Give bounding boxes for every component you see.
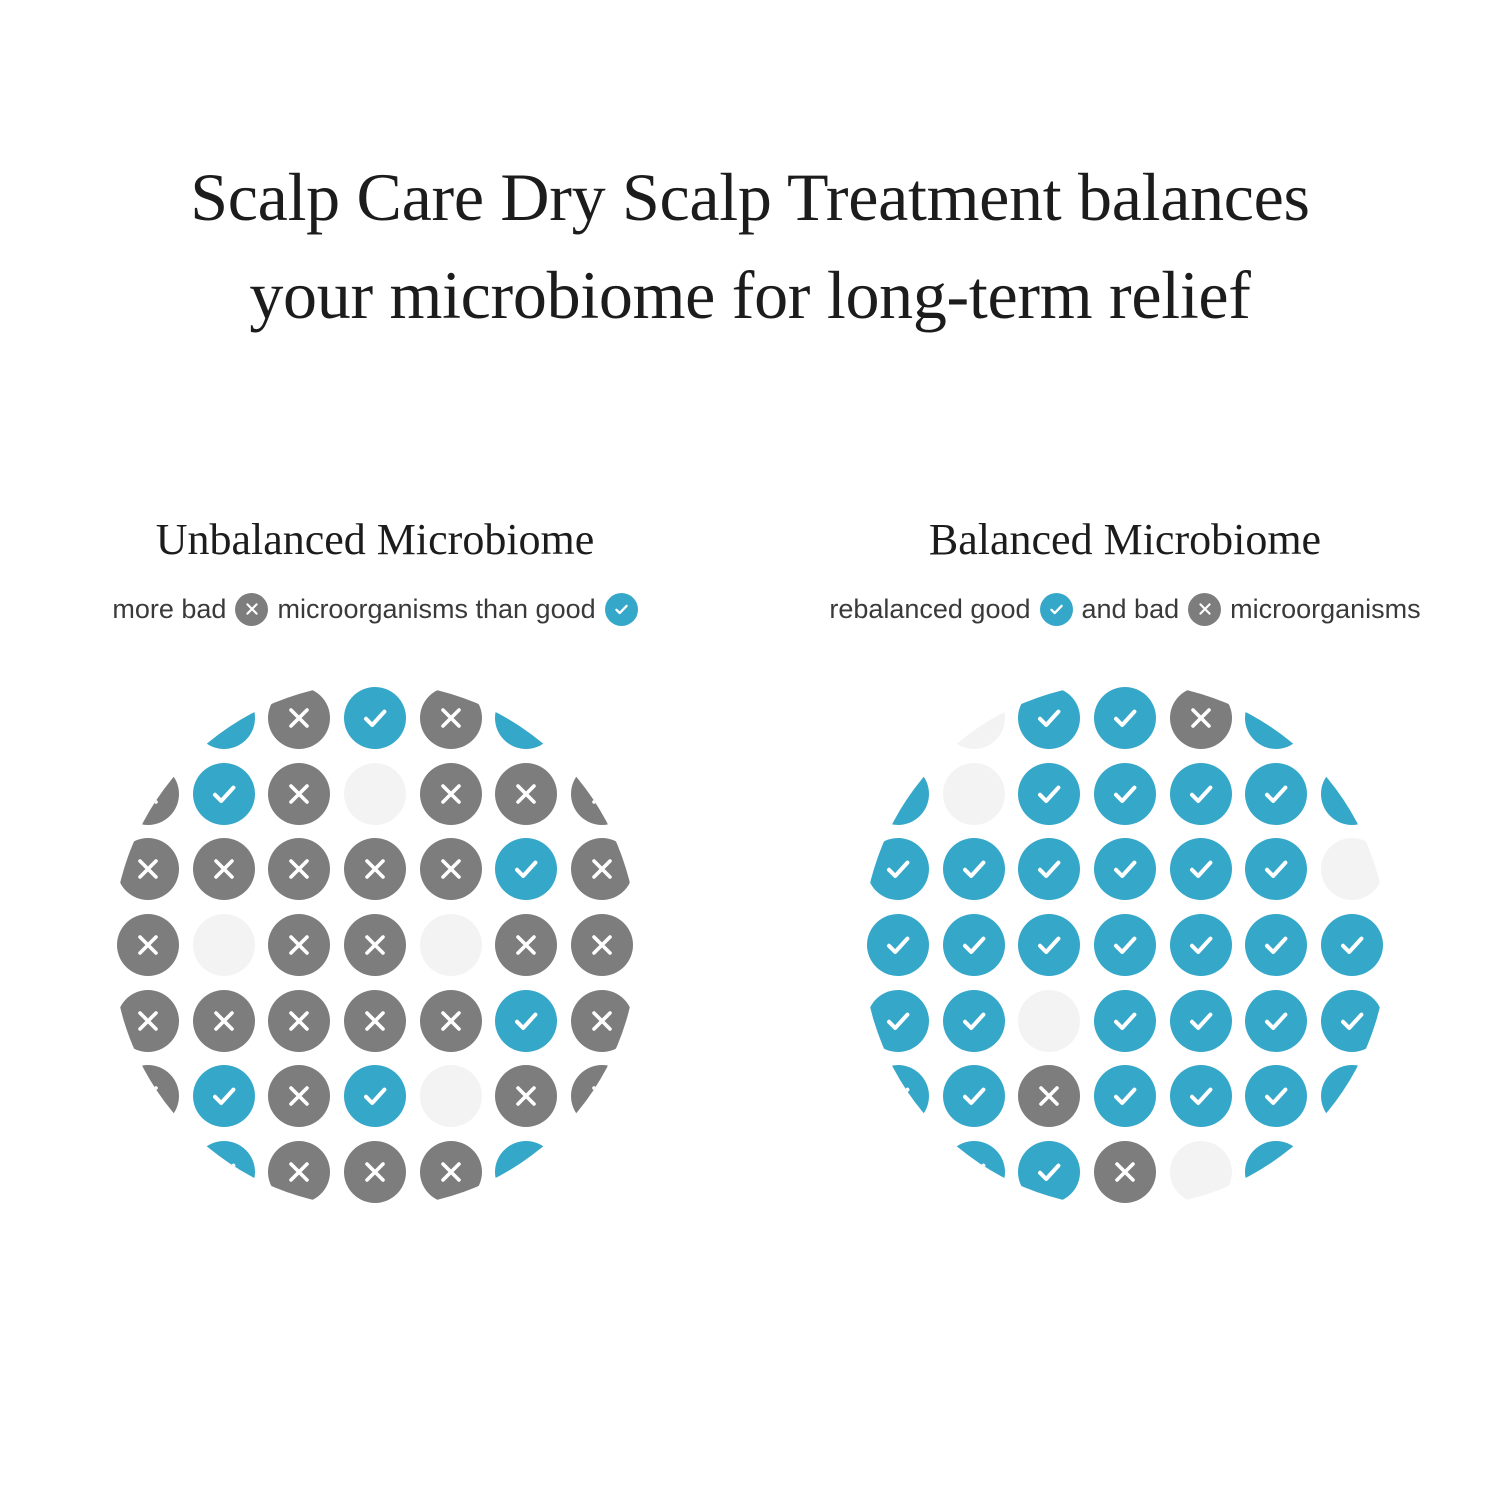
microbe-cell bbox=[564, 1134, 640, 1210]
panel-caption-balanced: rebalanced good and bad microorganisms bbox=[829, 592, 1420, 626]
bad-microbe-x-icon bbox=[420, 838, 482, 900]
microbe-cell bbox=[186, 1134, 262, 1210]
panel-heading-unbalanced: Unbalanced Microbiome bbox=[156, 512, 595, 568]
microbe-cell bbox=[110, 831, 186, 907]
microbe-cell bbox=[261, 907, 337, 983]
good-microbe-check-icon bbox=[1094, 687, 1156, 749]
caption-text-part2: and bad bbox=[1082, 594, 1180, 625]
microbe-cell bbox=[261, 1059, 337, 1135]
microbe-cell bbox=[1314, 1059, 1390, 1135]
microbe-cell bbox=[337, 831, 413, 907]
bad-microbe-x-icon bbox=[268, 687, 330, 749]
bad-microbe-x-icon bbox=[420, 763, 482, 825]
bad-microbe-x-icon bbox=[268, 1141, 330, 1203]
bad-microbe-x-icon bbox=[344, 914, 406, 976]
microbe-cell bbox=[860, 831, 936, 907]
microbe-cell bbox=[110, 680, 186, 756]
microbe-cell bbox=[1314, 983, 1390, 1059]
good-microbe-check-icon bbox=[193, 1065, 255, 1127]
good-microbe-check-icon bbox=[1018, 763, 1080, 825]
microbe-cell bbox=[186, 756, 262, 832]
microbe-cell bbox=[1163, 1134, 1239, 1210]
microbe-cell bbox=[1087, 1059, 1163, 1135]
infographic-page: Scalp Care Dry Scalp Treatment balances … bbox=[0, 0, 1500, 1500]
microbe-cell bbox=[936, 1134, 1012, 1210]
microbe-cell bbox=[489, 983, 565, 1059]
microbe-cell bbox=[1011, 983, 1087, 1059]
microbe-cell bbox=[1314, 907, 1390, 983]
bad-microbe-x-icon bbox=[268, 914, 330, 976]
good-microbe-check-icon bbox=[1321, 990, 1383, 1052]
microbe-cell bbox=[860, 907, 936, 983]
title-line-2: your microbiome for long-term relief bbox=[0, 246, 1500, 344]
microbe-cell bbox=[860, 1059, 936, 1135]
microbe-cell bbox=[1239, 1134, 1315, 1210]
microbe-cell bbox=[860, 983, 936, 1059]
neutral-microbe-dot bbox=[943, 763, 1005, 825]
microbe-cell bbox=[489, 680, 565, 756]
microbiome-grid bbox=[110, 680, 640, 1210]
microbe-cell bbox=[489, 756, 565, 832]
microbe-cell bbox=[936, 983, 1012, 1059]
panel-balanced: Balanced Microbiome rebalanced good and … bbox=[750, 512, 1500, 1210]
bad-microbe-x-icon bbox=[344, 1141, 406, 1203]
microbe-cell bbox=[110, 907, 186, 983]
caption-text-part1: more bad bbox=[112, 594, 226, 625]
good-microbe-check-icon bbox=[943, 990, 1005, 1052]
panel-heading-balanced: Balanced Microbiome bbox=[929, 512, 1321, 568]
good-microbe-check-icon bbox=[1245, 838, 1307, 900]
microbe-cell bbox=[1011, 680, 1087, 756]
microbe-cell bbox=[1087, 907, 1163, 983]
good-microbe-check-icon bbox=[1245, 687, 1307, 749]
microbiome-cluster-unbalanced bbox=[110, 680, 640, 1210]
microbe-cell bbox=[1163, 907, 1239, 983]
microbe-cell bbox=[860, 756, 936, 832]
microbe-cell bbox=[337, 983, 413, 1059]
microbe-cell bbox=[1011, 907, 1087, 983]
bad-microbe-x-icon bbox=[420, 1141, 482, 1203]
microbe-cell bbox=[110, 1134, 186, 1210]
panel-caption-unbalanced: more bad microorganisms than good bbox=[112, 592, 637, 626]
microbe-cell bbox=[489, 907, 565, 983]
microbe-cell bbox=[110, 983, 186, 1059]
microbe-cell bbox=[1314, 756, 1390, 832]
microbe-cell bbox=[1163, 756, 1239, 832]
bad-microbe-x-icon bbox=[117, 914, 179, 976]
good-microbe-check-icon bbox=[1094, 838, 1156, 900]
good-microbe-check-icon bbox=[1018, 838, 1080, 900]
bad-microbe-x-icon bbox=[193, 990, 255, 1052]
x-icon bbox=[1188, 593, 1221, 626]
microbe-cell bbox=[1239, 680, 1315, 756]
microbe-cell bbox=[1314, 1134, 1390, 1210]
bad-microbe-x-icon bbox=[268, 838, 330, 900]
comparison-panels: Unbalanced Microbiome more bad microorga… bbox=[0, 512, 1500, 1210]
good-microbe-check-icon bbox=[1170, 990, 1232, 1052]
microbe-cell bbox=[936, 1059, 1012, 1135]
microbe-cell bbox=[1163, 983, 1239, 1059]
microbe-cell bbox=[337, 680, 413, 756]
bad-microbe-x-icon bbox=[1170, 687, 1232, 749]
good-microbe-check-icon bbox=[193, 1141, 255, 1203]
bad-microbe-x-icon bbox=[1018, 1065, 1080, 1127]
bad-microbe-x-icon bbox=[193, 838, 255, 900]
bad-microbe-x-icon bbox=[495, 763, 557, 825]
neutral-microbe-dot bbox=[420, 914, 482, 976]
good-microbe-check-icon bbox=[943, 914, 1005, 976]
good-microbe-check-icon bbox=[495, 1141, 557, 1203]
microbe-cell bbox=[1239, 1059, 1315, 1135]
bad-microbe-x-icon bbox=[571, 1065, 633, 1127]
bad-microbe-x-icon bbox=[344, 990, 406, 1052]
bad-microbe-x-icon bbox=[571, 838, 633, 900]
microbe-cell bbox=[936, 680, 1012, 756]
neutral-microbe-dot bbox=[344, 763, 406, 825]
good-microbe-check-icon bbox=[943, 1065, 1005, 1127]
good-microbe-check-icon bbox=[1321, 1065, 1383, 1127]
microbe-cell bbox=[186, 907, 262, 983]
check-icon bbox=[605, 593, 638, 626]
page-title: Scalp Care Dry Scalp Treatment balances … bbox=[0, 148, 1500, 344]
microbe-cell bbox=[413, 1059, 489, 1135]
good-microbe-check-icon bbox=[1170, 763, 1232, 825]
microbe-cell bbox=[1239, 831, 1315, 907]
good-microbe-check-icon bbox=[1094, 1065, 1156, 1127]
microbe-cell bbox=[936, 831, 1012, 907]
good-microbe-check-icon bbox=[1321, 914, 1383, 976]
good-microbe-check-icon bbox=[1245, 1141, 1307, 1203]
neutral-microbe-dot bbox=[1170, 1141, 1232, 1203]
bad-microbe-x-icon bbox=[268, 1065, 330, 1127]
check-icon bbox=[1040, 593, 1073, 626]
microbe-cell bbox=[564, 983, 640, 1059]
bad-microbe-x-icon bbox=[571, 763, 633, 825]
microbe-cell bbox=[413, 756, 489, 832]
microbe-cell bbox=[1011, 1134, 1087, 1210]
microbe-cell bbox=[261, 831, 337, 907]
microbe-cell bbox=[413, 907, 489, 983]
bad-microbe-x-icon bbox=[344, 838, 406, 900]
microbe-cell bbox=[1011, 831, 1087, 907]
microbe-cell bbox=[413, 983, 489, 1059]
caption-text-part1: rebalanced good bbox=[829, 594, 1030, 625]
microbe-cell bbox=[261, 1134, 337, 1210]
microbe-cell bbox=[337, 756, 413, 832]
microbe-cell bbox=[110, 756, 186, 832]
good-microbe-check-icon bbox=[867, 763, 929, 825]
microbe-cell bbox=[489, 1134, 565, 1210]
microbe-cell bbox=[186, 1059, 262, 1135]
good-microbe-check-icon bbox=[1245, 990, 1307, 1052]
good-microbe-check-icon bbox=[1094, 763, 1156, 825]
microbe-cell bbox=[564, 1059, 640, 1135]
bad-microbe-x-icon bbox=[420, 990, 482, 1052]
good-microbe-check-icon bbox=[1170, 914, 1232, 976]
microbe-cell bbox=[261, 680, 337, 756]
microbe-cell bbox=[489, 1059, 565, 1135]
microbe-cell bbox=[564, 756, 640, 832]
good-microbe-check-icon bbox=[943, 838, 1005, 900]
x-icon bbox=[235, 593, 268, 626]
bad-microbe-x-icon bbox=[268, 990, 330, 1052]
microbiome-grid bbox=[860, 680, 1390, 1210]
good-microbe-check-icon bbox=[1094, 990, 1156, 1052]
microbiome-cluster-balanced bbox=[860, 680, 1390, 1210]
microbe-cell bbox=[1087, 831, 1163, 907]
good-microbe-check-icon bbox=[1321, 763, 1383, 825]
bad-microbe-x-icon bbox=[420, 687, 482, 749]
microbe-cell bbox=[489, 831, 565, 907]
microbe-cell bbox=[1011, 756, 1087, 832]
good-microbe-check-icon bbox=[344, 1065, 406, 1127]
microbe-cell bbox=[1087, 1134, 1163, 1210]
neutral-microbe-dot bbox=[943, 687, 1005, 749]
microbe-cell bbox=[261, 983, 337, 1059]
bad-microbe-x-icon bbox=[117, 763, 179, 825]
good-microbe-check-icon bbox=[867, 914, 929, 976]
microbe-cell bbox=[1011, 1059, 1087, 1135]
good-microbe-check-icon bbox=[495, 990, 557, 1052]
bad-microbe-x-icon bbox=[117, 838, 179, 900]
good-microbe-check-icon bbox=[344, 687, 406, 749]
microbe-cell bbox=[1239, 756, 1315, 832]
microbe-cell bbox=[860, 1134, 936, 1210]
cluster-circle-mask bbox=[860, 680, 1390, 1210]
panel-unbalanced: Unbalanced Microbiome more bad microorga… bbox=[0, 512, 750, 1210]
microbe-cell bbox=[337, 907, 413, 983]
microbe-cell bbox=[1087, 756, 1163, 832]
bad-microbe-x-icon bbox=[117, 990, 179, 1052]
microbe-cell bbox=[413, 831, 489, 907]
microbe-cell bbox=[186, 831, 262, 907]
microbe-cell bbox=[413, 1134, 489, 1210]
neutral-microbe-dot bbox=[1018, 990, 1080, 1052]
microbe-cell bbox=[1239, 907, 1315, 983]
bad-microbe-x-icon bbox=[268, 763, 330, 825]
good-microbe-check-icon bbox=[1170, 1065, 1232, 1127]
title-line-1: Scalp Care Dry Scalp Treatment balances bbox=[0, 148, 1500, 246]
microbe-cell bbox=[936, 756, 1012, 832]
good-microbe-check-icon bbox=[1018, 687, 1080, 749]
microbe-cell bbox=[1163, 680, 1239, 756]
microbe-cell bbox=[564, 907, 640, 983]
neutral-microbe-dot bbox=[420, 1065, 482, 1127]
microbe-cell bbox=[337, 1059, 413, 1135]
microbe-cell bbox=[936, 907, 1012, 983]
good-microbe-check-icon bbox=[1245, 763, 1307, 825]
microbe-cell bbox=[564, 831, 640, 907]
bad-microbe-x-icon bbox=[1094, 1141, 1156, 1203]
microbe-cell bbox=[1087, 983, 1163, 1059]
microbe-cell bbox=[110, 1059, 186, 1135]
microbe-cell bbox=[564, 680, 640, 756]
microbe-cell bbox=[186, 983, 262, 1059]
microbe-cell bbox=[1314, 680, 1390, 756]
good-microbe-check-icon bbox=[1245, 914, 1307, 976]
microbe-cell bbox=[1087, 680, 1163, 756]
good-microbe-check-icon bbox=[1170, 838, 1232, 900]
bad-microbe-x-icon bbox=[571, 990, 633, 1052]
good-microbe-check-icon bbox=[867, 838, 929, 900]
microbe-cell bbox=[1163, 1059, 1239, 1135]
cluster-circle-mask bbox=[110, 680, 640, 1210]
microbe-cell bbox=[1239, 983, 1315, 1059]
neutral-microbe-dot bbox=[1321, 838, 1383, 900]
good-microbe-check-icon bbox=[495, 687, 557, 749]
good-microbe-check-icon bbox=[943, 1141, 1005, 1203]
microbe-cell bbox=[413, 680, 489, 756]
good-microbe-check-icon bbox=[867, 1065, 929, 1127]
microbe-cell bbox=[1314, 831, 1390, 907]
good-microbe-check-icon bbox=[495, 838, 557, 900]
good-microbe-check-icon bbox=[193, 763, 255, 825]
caption-text-part2: microorganisms than good bbox=[277, 594, 595, 625]
good-microbe-check-icon bbox=[1018, 914, 1080, 976]
good-microbe-check-icon bbox=[1245, 1065, 1307, 1127]
bad-microbe-x-icon bbox=[495, 1065, 557, 1127]
bad-microbe-x-icon bbox=[117, 1065, 179, 1127]
caption-text-part3: microorganisms bbox=[1230, 594, 1421, 625]
microbe-cell bbox=[337, 1134, 413, 1210]
bad-microbe-x-icon bbox=[571, 914, 633, 976]
good-microbe-check-icon bbox=[1094, 914, 1156, 976]
microbe-cell bbox=[186, 680, 262, 756]
good-microbe-check-icon bbox=[867, 990, 929, 1052]
microbe-cell bbox=[261, 756, 337, 832]
microbe-cell bbox=[860, 680, 936, 756]
good-microbe-check-icon bbox=[1018, 1141, 1080, 1203]
neutral-microbe-dot bbox=[193, 914, 255, 976]
bad-microbe-x-icon bbox=[495, 914, 557, 976]
good-microbe-check-icon bbox=[193, 687, 255, 749]
microbe-cell bbox=[1163, 831, 1239, 907]
